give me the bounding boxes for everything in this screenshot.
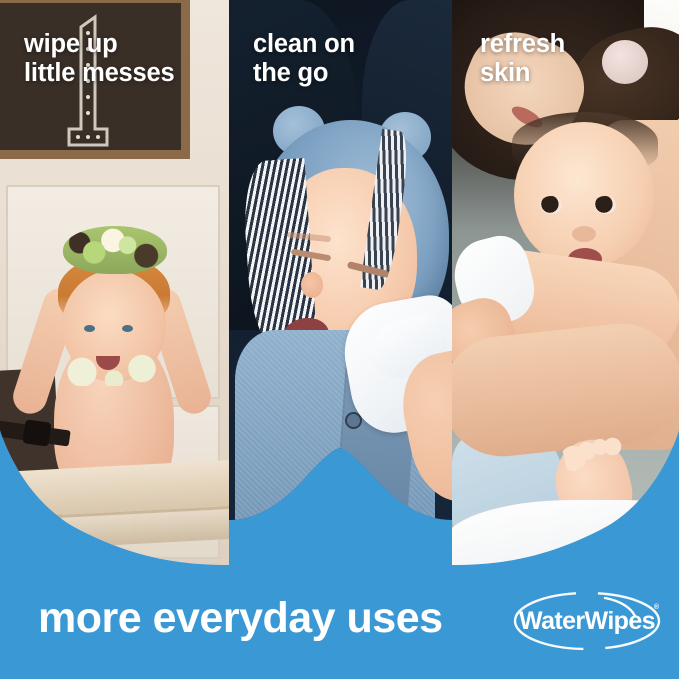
photo-mother-holding-baby <box>452 0 679 580</box>
panel-wipe-up-little-messes[interactable] <box>0 0 229 580</box>
photo-baby-hoodie-wipe <box>229 0 452 580</box>
photo-messy-baby-highchair <box>0 0 229 580</box>
banner-headline: more everyday uses <box>38 592 443 644</box>
waterwipes-logo[interactable]: WaterWipes ® <box>509 588 665 654</box>
number-one-chalk-icon <box>61 9 113 159</box>
panel-refresh-skin[interactable] <box>452 0 679 580</box>
waterwipes-lifestyle-graphic: wipe up little messes clean on the go re… <box>0 0 679 679</box>
logo-trademark-symbol: ® <box>654 604 659 611</box>
panel-clean-on-the-go[interactable] <box>229 0 452 580</box>
photo-band <box>0 0 679 580</box>
logo-wordmark: WaterWipes <box>509 588 665 654</box>
chalkboard-sign <box>0 0 190 159</box>
